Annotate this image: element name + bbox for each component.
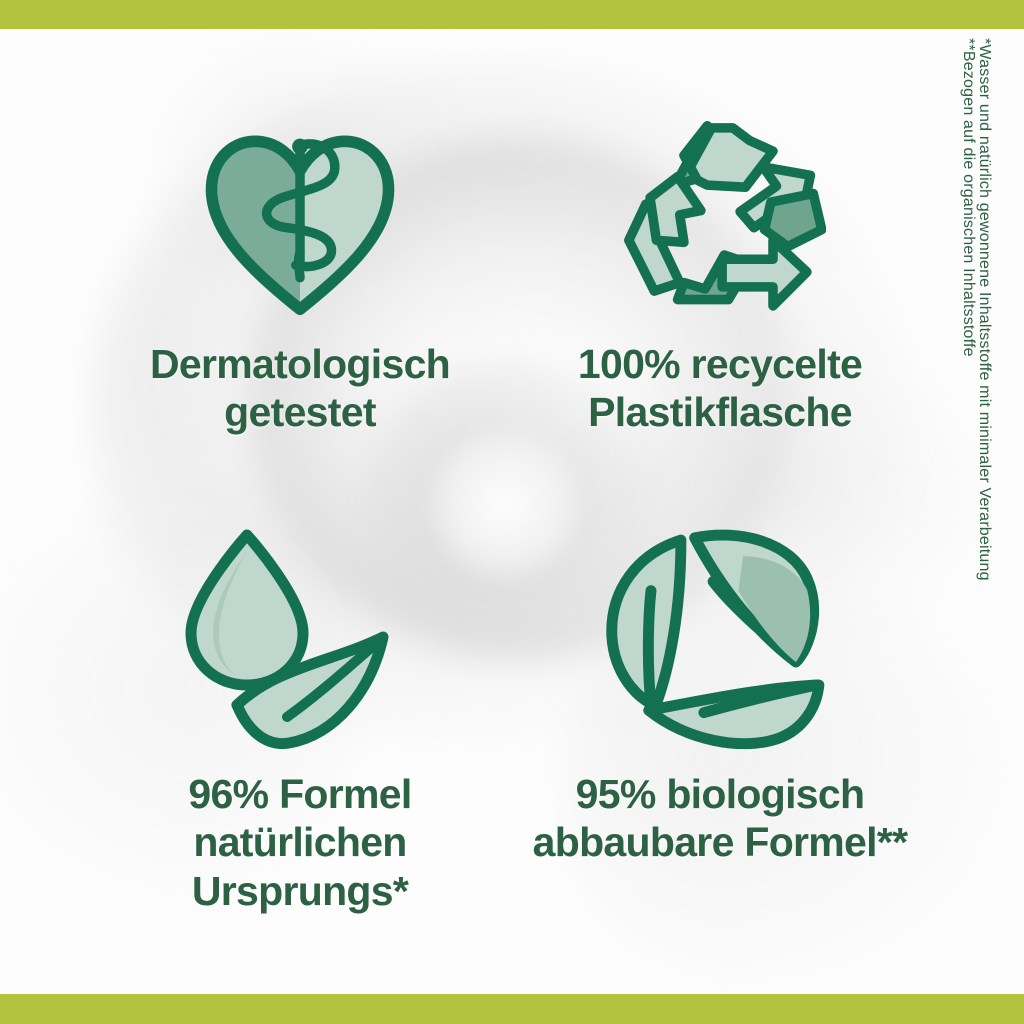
olive-accent-bar-bottom — [0, 994, 1024, 1024]
water-drop-leaf-icon-svg — [185, 521, 415, 757]
claim-item-natural-origin-formula: 96% Formel natürlichen Ursprungs* — [60, 514, 540, 915]
footnote-single-asterisk: *Wasser und natürlich gewonnene Inhaltss… — [975, 38, 993, 581]
claim-label: 95% biologisch abbaubare Formel** — [533, 770, 908, 867]
footnotes-block: *Wasser und natürlich gewonnene Inhaltss… — [955, 38, 1015, 938]
claim-label: 96% Formel natürlichen Ursprungs* — [188, 770, 411, 915]
recycling-arrows-icon-svg — [614, 113, 826, 325]
product-claims-infographic: Dermatologisch getestet — [0, 0, 1024, 1024]
claim-item-dermatologically-tested: Dermatologisch getestet — [60, 104, 540, 437]
water-drop-leaf-icon — [185, 514, 415, 764]
recycling-arrows-icon — [605, 104, 835, 334]
footnote-double-asterisk: **Bezogen auf die organischen Inhaltssto… — [959, 38, 977, 357]
claim-item-recycled-plastic-bottle: 100% recycelte Plastikflasche — [480, 104, 960, 437]
three-leaves-icon — [605, 514, 835, 764]
claims-grid: Dermatologisch getestet — [0, 29, 960, 994]
claim-label: Dermatologisch getestet — [150, 340, 450, 437]
heart-caduceus-icon-svg — [195, 114, 405, 324]
claim-label: 100% recycelte Plastikflasche — [578, 340, 862, 437]
heart-caduceus-icon — [185, 104, 415, 334]
olive-accent-bar-top — [0, 0, 1024, 29]
three-leaves-icon-svg — [605, 517, 835, 761]
claim-item-biodegradable-formula: 95% biologisch abbaubare Formel** — [480, 514, 960, 867]
